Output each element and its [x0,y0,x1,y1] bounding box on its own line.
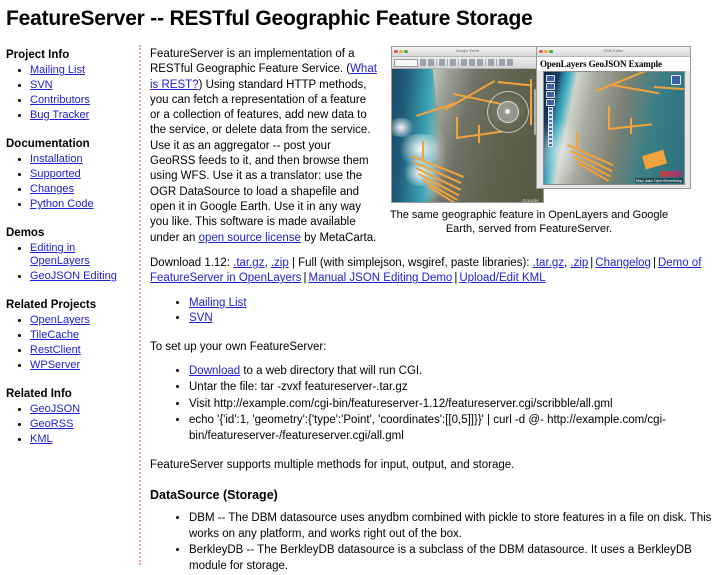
upload-edit-kml-link[interactable]: Upload/Edit KML [459,272,545,284]
feature-line [630,118,632,134]
feature-line [567,144,613,166]
setup-step-1-text: to a web directory that will run CGI. [240,365,422,377]
list-item: Bug Tracker [30,109,134,122]
openlayers-titlebar: OSM Editor [537,47,690,57]
figure-screenshots: Google Earth [377,45,727,236]
sidebar-item-openlayers[interactable]: OpenLayers [30,314,90,326]
list-item: WPServer [30,359,134,372]
sidebar-list-documentation: Installation Supported Changes Python Co… [0,153,134,211]
setup-step-3-text: Visit http://example.com/cgi-bin/feature… [189,398,613,410]
toolbar-ruler-icon [461,59,467,66]
sidebar-item-supported[interactable]: Supported [30,168,81,180]
list-item: GeoRSS [30,418,134,431]
download-prefix: Download 1.12: [150,257,233,269]
sidebar-item-contributors[interactable]: Contributors [30,94,90,106]
openlayers-window-title: OSM Editor [537,47,690,56]
sidebar-item-installation[interactable]: Installation [30,153,83,165]
pipe-separator: | [302,272,309,284]
sidebar-item-mailing-list[interactable]: Mailing List [30,64,85,76]
sidebar-group-related-info: Related Info GeoJSON GeoRSS KML [0,384,134,446]
sidebar-item-geojson-editing[interactable]: GeoJSON Editing [30,270,117,282]
sidebar-list-project-info: Mailing List SVN Contributors Bug Tracke… [0,64,134,122]
map-attribution: Map data OpenStreetMap [635,178,683,183]
download-full-targz-link[interactable]: .tar.gz [533,257,564,269]
feature-line [684,86,685,126]
list-item: GeoJSON [30,403,134,416]
setup-download-link[interactable]: Download [189,365,240,377]
sidebar-item-svn[interactable]: SVN [30,79,53,91]
sidebar-item-editing-in-openlayers[interactable]: Editing in OpenLayers [30,242,90,267]
sidebar-group-project-info: Project Info Mailing List SVN Contributo… [0,45,134,122]
toolbar-image-icon [439,59,445,66]
sidebar: Project Info Mailing List SVN Contributo… [0,45,141,565]
sidebar-item-python-code[interactable]: Python Code [30,198,94,210]
list-item: Download to a web directory that will ru… [189,364,727,380]
sidebar-item-bug-tracker[interactable]: Bug Tracker [30,109,89,121]
pan-down-button[interactable] [546,99,555,106]
sidebar-heading-documentation: Documentation [6,134,134,150]
sidebar-heading-related-projects: Related Projects [6,295,134,311]
intro-paragraph: FeatureServer is an implementation of a … [150,45,377,246]
download-zip-link[interactable]: .zip [271,257,289,269]
sidebar-item-restclient[interactable]: RestClient [30,344,81,356]
sidebar-group-related-projects: Related Projects OpenLayers TileCache Re… [0,295,134,372]
openlayers-logo [660,171,682,177]
download-full-zip-link[interactable]: .zip [570,257,588,269]
toolbar-divider [447,59,448,66]
quick-link-svn[interactable]: SVN [189,312,213,324]
sidebar-item-wpserver[interactable]: WPServer [30,359,80,371]
page-layout: Project Info Mailing List SVN Contributo… [0,45,727,575]
pipe-separator: | [651,257,658,269]
openlayers-page-heading: OpenLayers GeoJSON Example [537,57,690,71]
openlayers-map-view[interactable]: Map data OpenStreetMap [543,71,685,185]
sidebar-item-changes[interactable]: Changes [30,183,74,195]
sidebar-group-documentation: Documentation Installation Supported Cha… [0,134,134,211]
setup-step-4-text: echo '{'id':1, 'geometry':{'type':'Point… [189,414,666,442]
sidebar-heading-demos: Demos [6,223,134,239]
toolbar-print-icon [428,59,434,66]
main-content: FeatureServer is an implementation of a … [141,45,727,575]
sidebar-item-tilecache[interactable]: TileCache [30,329,79,341]
zoom-bar[interactable] [548,107,553,147]
list-item: Changes [30,183,134,196]
navigation-compass-icon[interactable] [487,91,529,133]
sidebar-list-related-projects: OpenLayers TileCache RestClient WPServer [0,314,134,372]
quick-link-mailing-list[interactable]: Mailing List [189,297,247,309]
setup-step-2-text: Untar the file: tar -zvxf featureserver-… [189,381,408,393]
pan-up-button[interactable] [546,75,555,82]
sidebar-group-demos: Demos Editing in OpenLayers GeoJSON Edit… [0,223,134,283]
toolbar-email-icon [450,59,456,66]
google-earth-toolbar [392,57,543,69]
quick-links-list: Mailing List SVN [150,296,727,327]
sidebar-item-geojson[interactable]: GeoJSON [30,403,80,415]
pan-right-button[interactable] [546,91,555,98]
toolbar-combo-icon [394,59,418,67]
list-item: Untar the file: tar -zvxf featureserver-… [189,380,727,396]
window-controls-icon [394,50,408,54]
figure-caption: The same geographic feature in OpenLayer… [379,208,679,236]
pan-zoom-control[interactable] [546,75,555,147]
google-earth-map-view[interactable]: Google [392,69,543,203]
list-item: Mailing List [189,296,727,312]
toolbar-divider [496,59,497,66]
setup-steps-list: Download to a web directory that will ru… [150,364,727,445]
list-item: TileCache [30,329,134,342]
toolbar-placemark-icon [469,59,475,66]
openlayers-window: OSM Editor OpenLayers GeoJSON Example [536,46,691,189]
window-controls-icon [539,50,553,54]
sidebar-item-georss[interactable]: GeoRSS [30,418,73,430]
datasource-dbm-text: DBM -- The DBM datasource uses anydbm co… [189,512,711,540]
feature-line [498,81,532,87]
list-item: RestClient [30,344,134,357]
google-earth-window-title: Google Earth [392,47,543,56]
open-source-license-link[interactable]: open source license [199,232,301,244]
list-item: GeoJSON Editing [30,270,134,283]
layer-switcher-icon[interactable] [671,75,681,85]
google-earth-window: Google Earth [391,46,544,203]
list-item: SVN [189,311,727,327]
changelog-link[interactable]: Changelog [595,257,651,269]
sidebar-heading-related-info: Related Info [6,384,134,400]
datasource-berkleydb-text: BerkleyDB -- The BerkleyDB datasource is… [189,544,692,572]
feature-line [478,125,480,143]
sidebar-heading-project-info: Project Info [6,45,134,61]
google-earth-titlebar: Google Earth [392,47,543,57]
feature-line [422,141,424,161]
toolbar-record-icon [507,59,513,66]
sidebar-list-demos: Editing in OpenLayers GeoJSON Editing [0,242,134,283]
list-item: Editing in OpenLayers [30,242,134,268]
feature-line [654,86,685,90]
list-item: echo '{'id':1, 'geometry':{'type':'Point… [189,413,727,444]
feature-polygon [642,150,667,170]
download-line: Download 1.12: .tar.gz, .zip | Full (wit… [150,256,727,287]
list-item: BerkleyDB -- The BerkleyDB datasource is… [189,543,727,574]
setup-intro-paragraph: To set up your own FeatureServer: [150,340,727,355]
list-item: Installation [30,153,134,166]
feature-line [608,106,610,130]
list-item: Visit http://example.com/cgi-bin/feature… [189,397,727,413]
toolbar-polygon-icon [477,59,483,66]
datasource-list: DBM -- The DBM datasource uses anydbm co… [150,511,727,574]
screenshot-pair: Google Earth [391,46,691,203]
sidebar-list-related-info: GeoJSON GeoRSS KML [0,403,134,446]
toolbar-divider [458,59,459,66]
feature-line [530,79,532,125]
download-full-label: | Full (with simplejson, wsgiref, paste … [289,257,533,269]
list-item: Contributors [30,94,134,107]
intro-text-part2: Using standard HTTP methods, you can fet… [150,79,371,244]
toolbar-sun-icon [488,59,494,66]
toolbar-divider [485,59,486,66]
list-item: Supported [30,168,134,181]
supports-paragraph: FeatureServer supports multiple methods … [150,458,727,473]
toolbar-save-icon [420,59,426,66]
pan-left-button[interactable] [546,83,555,90]
list-item: DBM -- The DBM datasource uses anydbm co… [189,511,727,542]
list-item: Mailing List [30,64,134,77]
datasource-heading: DataSource (Storage) [150,488,727,502]
list-item: Python Code [30,198,134,211]
intro-text-part1: FeatureServer is an implementation of a … [150,48,355,75]
page-title: FeatureServer -- RESTful Geographic Feat… [6,7,727,31]
manual-json-demo-link[interactable]: Manual JSON Editing Demo [309,272,453,284]
google-watermark: Google [523,198,539,203]
intro-row: FeatureServer is an implementation of a … [150,45,727,246]
download-targz-link[interactable]: .tar.gz [233,257,264,269]
intro-text-part3: by MetaCarta. [301,232,376,244]
toolbar-divider [436,59,437,66]
list-item: SVN [30,79,134,92]
list-item: OpenLayers [30,314,134,327]
list-item: KML [30,433,134,446]
toolbar-sky-icon [499,59,505,66]
feature-line [612,84,660,94]
sidebar-item-kml[interactable]: KML [30,433,53,445]
